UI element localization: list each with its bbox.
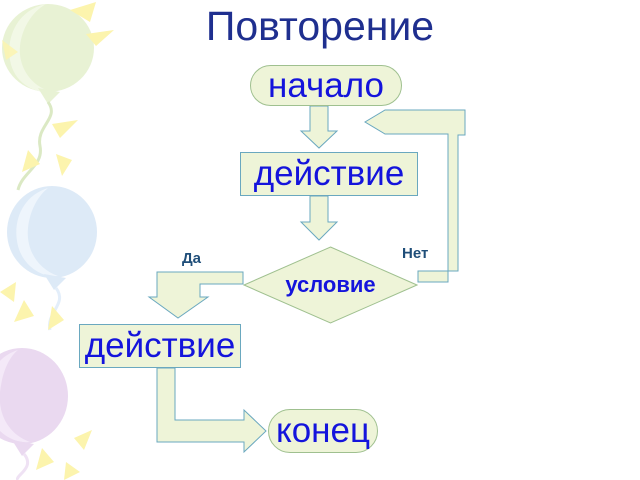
branch-label-no: Нет	[402, 245, 428, 262]
flow-node-end[interactable]: конец	[268, 409, 378, 453]
flow-node-action2-label: действие	[85, 326, 236, 366]
flow-node-action1[interactable]: действие	[240, 152, 418, 196]
flow-node-end-label: конец	[276, 411, 370, 451]
arrow-action1-to-decision	[301, 196, 337, 240]
branch-label-yes: Да	[182, 250, 201, 267]
arrow-start-to-action1	[301, 106, 337, 148]
flow-node-action2[interactable]: действие	[79, 324, 241, 368]
flow-node-start-label: начало	[268, 66, 384, 106]
slide-canvas: Повторение начало действие условие Да Не…	[0, 0, 640, 480]
flow-node-start[interactable]: начало	[250, 65, 402, 106]
flow-node-decision[interactable]: условие	[243, 246, 418, 324]
arrow-action2-to-end	[157, 368, 266, 452]
flow-node-decision-label: условие	[285, 272, 375, 298]
arrow-yes-to-action2	[149, 272, 243, 318]
flow-node-action1-label: действие	[254, 154, 405, 194]
